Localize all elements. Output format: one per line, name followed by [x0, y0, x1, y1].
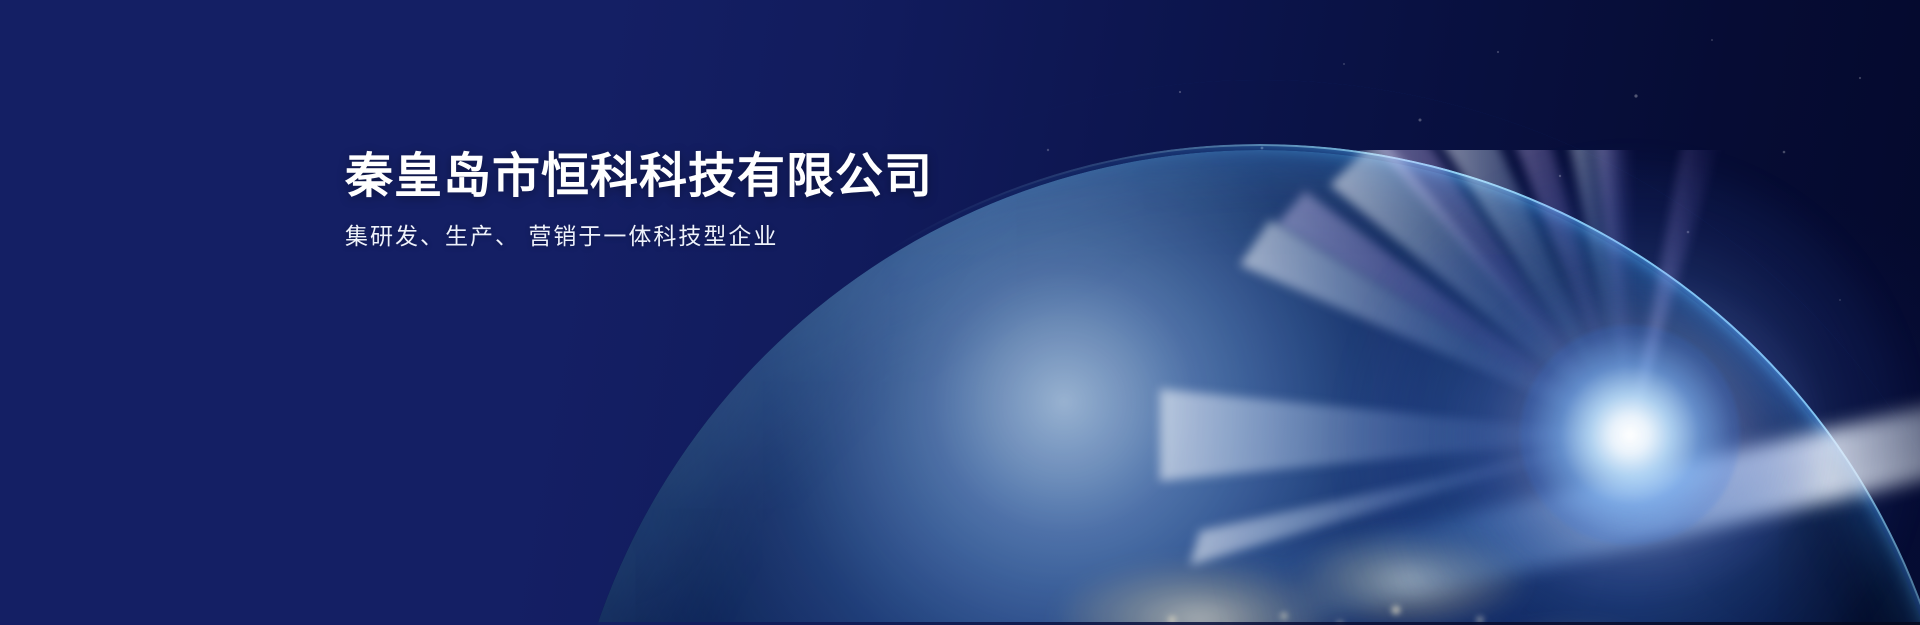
- sunrise-flare-core: [1520, 325, 1740, 545]
- company-tagline: 集研发、生产、 营销于一体科技型企业: [345, 220, 933, 252]
- banner-text-block: 秦皇岛市恒科科技有限公司 集研发、生产、 营销于一体科技型企业: [345, 148, 933, 252]
- hero-banner: 秦皇岛市恒科科技有限公司 集研发、生产、 营销于一体科技型企业: [0, 0, 1920, 625]
- company-title: 秦皇岛市恒科科技有限公司: [345, 148, 933, 206]
